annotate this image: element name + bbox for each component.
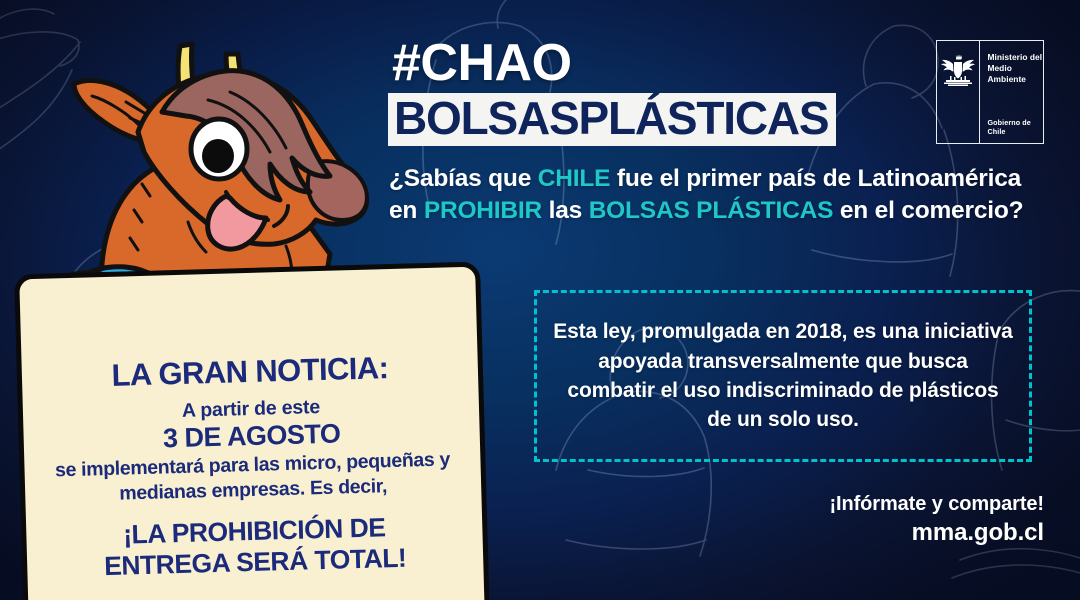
ministry-logo: Ministerio del Medio Ambiente Gobierno d…	[936, 40, 1044, 144]
footer-website[interactable]: mma.gob.cl	[829, 517, 1044, 548]
subtitle-accent-bolsas-plasticas: BOLSAS PLÁSTICAS	[589, 197, 834, 224]
headline-bolsasplasticas: BOLSASPLÁSTICAS	[394, 95, 828, 142]
hashtag-chao: #CHAO	[392, 38, 908, 89]
mascot-sign: LA GRAN NOTICIA: A partir de este 3 DE A…	[14, 261, 490, 600]
subtitle-question: ¿Sabías que CHILE fue el primer país de …	[389, 163, 1049, 228]
info-box-dashed: Esta ley, promulgada en 2018, es una ini…	[534, 290, 1032, 462]
footer-call-to-action: ¡Infórmate y comparte!	[829, 492, 1044, 517]
subtitle-accent-chile: CHILE	[538, 165, 611, 192]
logo-government-name: Gobierno de Chile	[987, 118, 1043, 136]
subtitle-seg-3: las	[542, 197, 589, 224]
sign-text-block: LA GRAN NOTICIA: A partir de este 3 DE A…	[17, 349, 489, 583]
headline-block: #CHAO BOLSASPLÁSTICAS	[388, 38, 908, 146]
headline-highlight-box: BOLSASPLÁSTICAS	[388, 93, 836, 146]
subtitle-accent-prohibir: PROHIBIR	[424, 197, 542, 224]
footer-block: ¡Infórmate y comparte! mma.gob.cl	[829, 492, 1044, 548]
subtitle-seg-1: ¿Sabías que	[389, 165, 538, 192]
logo-ministry-name: Ministerio del Medio Ambiente	[987, 52, 1043, 85]
campaign-poster: #CHAO BOLSASPLÁSTICAS ¿Sabías que CHILE …	[0, 0, 1080, 600]
chile-coat-of-arms-icon	[939, 54, 977, 88]
logo-crest-panel	[937, 41, 980, 143]
info-box-text: Esta ley, promulgada en 2018, es una ini…	[537, 317, 1029, 435]
subtitle-seg-4: en el comercio?	[833, 197, 1023, 224]
logo-text-panel: Ministerio del Medio Ambiente Gobierno d…	[980, 41, 1043, 143]
sign-subline-2: se implementará para las micro, pequeñas…	[29, 447, 476, 509]
